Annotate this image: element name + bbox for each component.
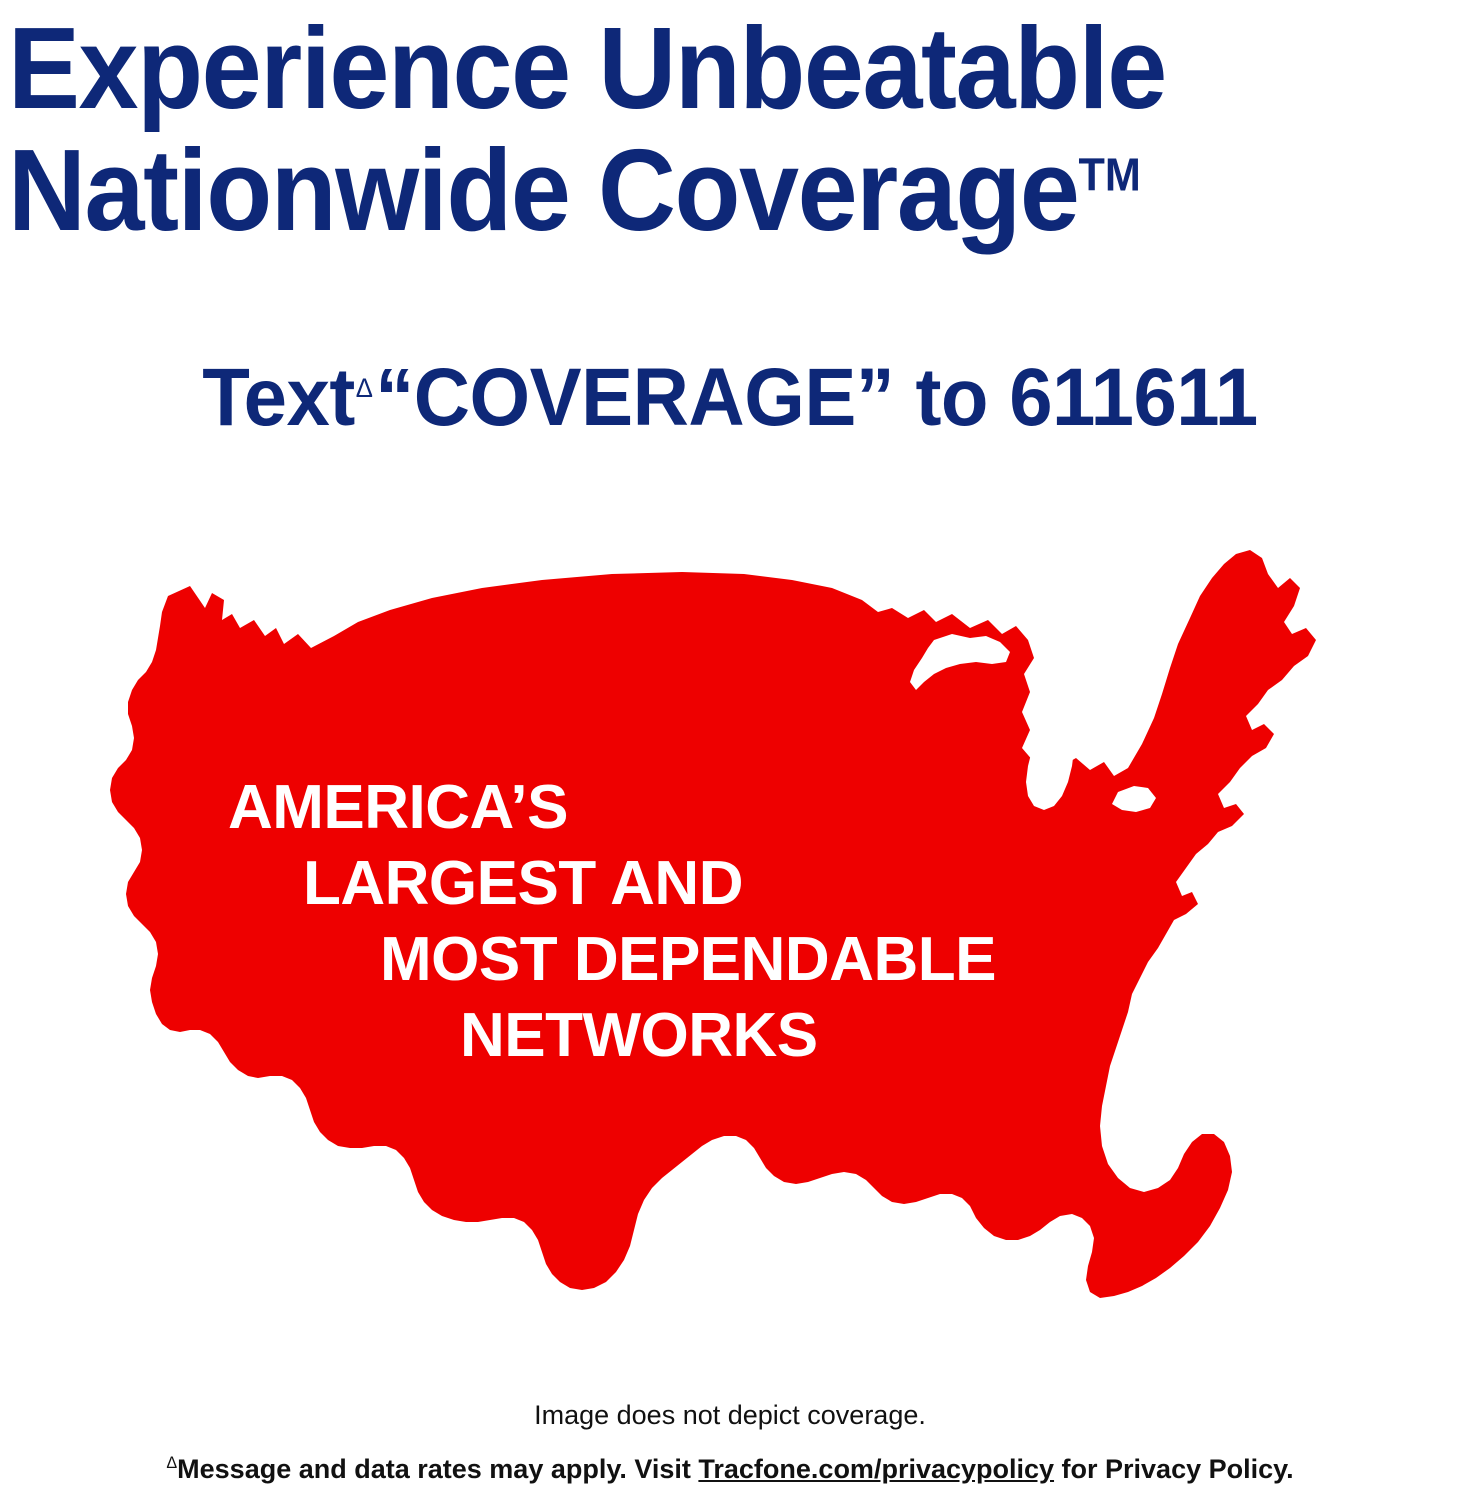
disclaimer-text-before: Message and data rates may apply. Visit bbox=[177, 1454, 698, 1484]
subheadline: TextΔ“COVERAGE” to 611611 bbox=[37, 352, 1424, 444]
headline-line-2: Nationwide CoverageTM bbox=[8, 126, 1358, 254]
us-map-svg bbox=[72, 548, 1322, 1348]
subheadline-rest: “COVERAGE” to 611611 bbox=[375, 352, 1257, 443]
us-mainland-shape bbox=[110, 550, 1316, 1298]
disclaimer-delta-mark: Δ bbox=[166, 1454, 177, 1472]
headline-line-2-text: Nationwide Coverage bbox=[8, 125, 1079, 255]
disclaimer-text-after: for Privacy Policy. bbox=[1054, 1454, 1294, 1484]
chesapeake-bay-notch bbox=[1214, 940, 1232, 990]
headline-line-1: Experience Unbeatable bbox=[8, 4, 1358, 132]
headline-block: Experience Unbeatable Nationwide Coverag… bbox=[0, 0, 1460, 254]
footer-disclaimer: ΔMessage and data rates may apply. Visit… bbox=[0, 1452, 1460, 1486]
trademark-superscript: TM bbox=[1079, 148, 1141, 200]
privacy-policy-link[interactable]: Tracfone.com/privacypolicy bbox=[698, 1454, 1054, 1484]
footnote-delta-superscript: Δ bbox=[355, 373, 375, 403]
us-map-graphic bbox=[72, 548, 1322, 1348]
ad-canvas: Experience Unbeatable Nationwide Coverag… bbox=[0, 0, 1460, 1500]
subheadline-prefix: Text bbox=[202, 352, 355, 443]
footer-note: Image does not depict coverage. bbox=[0, 1398, 1460, 1432]
